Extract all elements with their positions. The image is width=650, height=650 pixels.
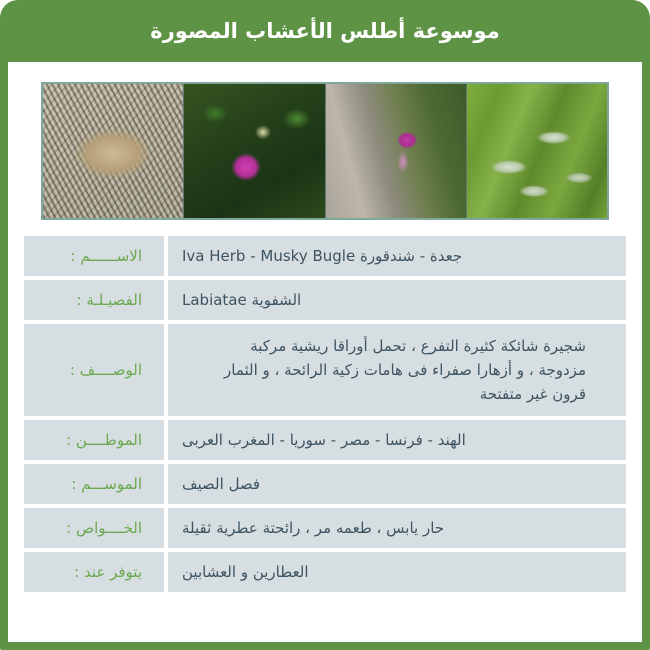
label-name: الاســــــم : bbox=[24, 236, 164, 276]
value-name: جعدة - شندقورة Iva Herb - Musky Bugle bbox=[168, 236, 626, 276]
value-season: فصل الصيف bbox=[168, 464, 626, 504]
title-bar: موسوعة أطلس الأعشاب المصورة bbox=[8, 0, 642, 62]
herb-encyclopedia-card: موسوعة أطلس الأعشاب المصورة جعدة - شندقو… bbox=[0, 0, 650, 650]
value-availability: العطارين و العشابين bbox=[168, 552, 626, 592]
value-habitat: الهند - فرنسا - مصر - سوريا - المغرب الع… bbox=[168, 420, 626, 460]
table-row-availability: العطارين و العشابين يتوفر عند : bbox=[24, 552, 626, 592]
label-family: الفصيـلـة : bbox=[24, 280, 164, 320]
page-title: موسوعة أطلس الأعشاب المصورة bbox=[150, 19, 499, 43]
value-family: الشفوية Labiatae bbox=[168, 280, 626, 320]
table-row-family: الشفوية Labiatae الفصيـلـة : bbox=[24, 280, 626, 320]
table-row-habitat: الهند - فرنسا - مصر - سوريا - المغرب الع… bbox=[24, 420, 626, 460]
herb-photo-strip bbox=[41, 82, 609, 220]
herb-photo-flower-closeup[interactable] bbox=[183, 84, 324, 218]
table-row-season: فصل الصيف الموســـم : bbox=[24, 464, 626, 504]
label-habitat: الموطــــن : bbox=[24, 420, 164, 460]
herb-photo-dried-plant[interactable] bbox=[43, 84, 183, 218]
label-properties: الخــــواص : bbox=[24, 508, 164, 548]
table-row-properties: حار يابس ، طعمه مر ، رائحتة عطرية ثقيلة … bbox=[24, 508, 626, 548]
table-row-description: شجيرة شائكة كثيرة التفرع ، تحمل أوراقا ر… bbox=[24, 324, 626, 416]
value-properties: حار يابس ، طعمه مر ، رائحتة عطرية ثقيلة bbox=[168, 508, 626, 548]
table-row-name: جعدة - شندقورة Iva Herb - Musky Bugle ال… bbox=[24, 236, 626, 276]
herb-photo-stem-with-flower[interactable] bbox=[325, 84, 466, 218]
herb-info-table: جعدة - شندقورة Iva Herb - Musky Bugle ال… bbox=[16, 236, 634, 592]
herb-photo-whole-plant[interactable] bbox=[466, 84, 607, 218]
label-availability: يتوفر عند : bbox=[24, 552, 164, 592]
label-season: الموســـم : bbox=[24, 464, 164, 504]
label-description: الوصــــف : bbox=[24, 324, 164, 416]
value-description: شجيرة شائكة كثيرة التفرع ، تحمل أوراقا ر… bbox=[168, 324, 626, 416]
content-card: جعدة - شندقورة Iva Herb - Musky Bugle ال… bbox=[8, 62, 642, 642]
